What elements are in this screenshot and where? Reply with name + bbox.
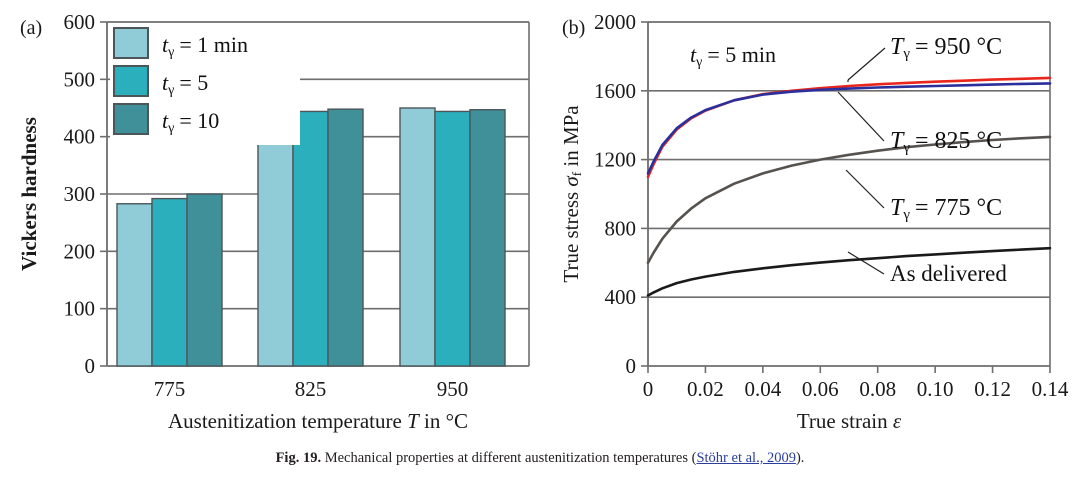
x-tick-label: 0.08 (859, 377, 896, 401)
figure-svg: (a)0100200300400500600775825950Austeniti… (0, 0, 1080, 450)
x-tick-label: 950 (437, 377, 469, 401)
y-tick-label: 0 (85, 354, 96, 378)
x-tick-label: 0.14 (1032, 377, 1069, 401)
bar (435, 111, 470, 366)
x-tick-label: 0 (643, 377, 654, 401)
bar (328, 109, 363, 366)
panel-b: (b)040080012001600200000.020.040.060.080… (559, 10, 1069, 433)
y-tick-label: 1200 (594, 148, 636, 172)
leader-line-775 (846, 170, 884, 208)
leader-line-as-delivered (848, 252, 884, 274)
y-tick-label: 400 (64, 125, 96, 149)
y-tick-label: 1600 (594, 79, 636, 103)
x-tick-label: 0.12 (974, 377, 1011, 401)
annotation-950: Tγ= 950 °C (890, 34, 1002, 62)
x-axis-title: Austenitization temperature T in °C (168, 409, 468, 433)
x-tick-label: 825 (295, 377, 327, 401)
leader-line-950 (848, 48, 885, 80)
legend-swatch (114, 28, 148, 58)
y-tick-label: 400 (605, 285, 637, 309)
caption-text: Mechanical properties at different auste… (325, 450, 697, 466)
bar (258, 108, 293, 366)
annotation-as-delivered: As delivered (890, 261, 1007, 286)
panel-b-label: (b) (562, 17, 585, 39)
bar (152, 199, 187, 366)
x-tick-label: 0.06 (802, 377, 839, 401)
panel-a-label: (a) (20, 17, 42, 39)
x-tick-label: 0.02 (687, 377, 724, 401)
y-tick-label: 600 (64, 10, 96, 34)
condition-note: tγ= 5 min (690, 42, 776, 70)
y-tick-label: 2000 (594, 10, 636, 34)
y-tick-label: 100 (64, 297, 96, 321)
leader-line-825 (838, 92, 884, 141)
legend-swatch (114, 66, 148, 96)
caption-citation-link[interactable]: Stöhr et al., 2009 (696, 450, 795, 466)
panel-a: (a)0100200300400500600775825950Austeniti… (17, 10, 529, 433)
bar (470, 110, 505, 366)
bar (400, 108, 435, 366)
y-axis-title: True stress σf in MPa (559, 105, 584, 283)
y-tick-label: 0 (626, 354, 637, 378)
x-axis-title: True strain ε (797, 409, 902, 433)
legend-swatch (114, 104, 148, 134)
y-tick-label: 800 (605, 216, 637, 240)
bar (293, 111, 328, 366)
caption-label: Fig. 19. (276, 450, 322, 466)
y-tick-label: 500 (64, 67, 96, 91)
annotation-775: Tγ= 775 °C (890, 195, 1002, 223)
figure-caption: Fig. 19. Mechanical properties at differ… (0, 450, 1080, 467)
bar (187, 194, 222, 366)
annotation-825: Tγ= 825 °C (890, 128, 1002, 156)
y-axis-title: Vickers hardness (17, 117, 41, 271)
x-tick-label: 0.04 (744, 377, 781, 401)
bar (117, 204, 152, 366)
y-tick-label: 300 (64, 182, 96, 206)
y-tick-label: 200 (64, 239, 96, 263)
x-tick-label: 0.10 (917, 377, 954, 401)
figure-container: (a)0100200300400500600775825950Austeniti… (0, 0, 1080, 491)
x-tick-label: 775 (154, 377, 186, 401)
caption-tail: ). (796, 450, 804, 466)
